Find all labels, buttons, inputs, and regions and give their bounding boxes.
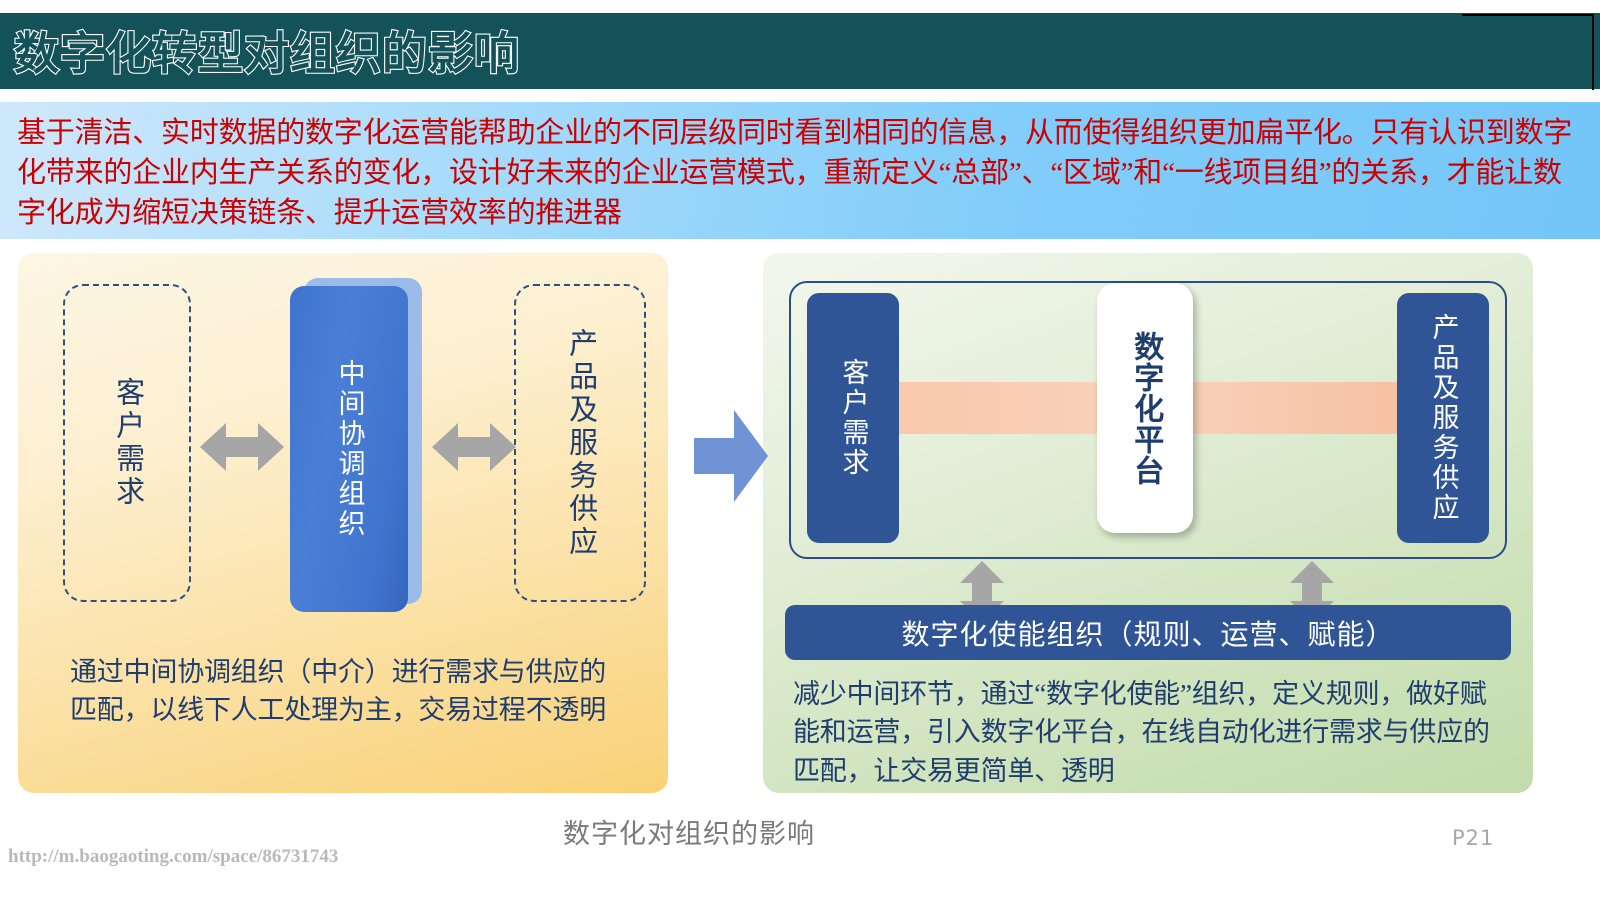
page-number: P21 bbox=[1452, 826, 1494, 850]
left-customer-demand-label: 客户需求 bbox=[65, 286, 189, 600]
enabling-organisation-label: 数字化使能组织（规则、运营、赋能） bbox=[901, 613, 1394, 653]
left-product-supply-label: 产品及服务供应 bbox=[516, 286, 644, 600]
middle-coordination-block: 中间协调组织 bbox=[290, 278, 422, 612]
title-bar: 数字化转型对组织的影响 bbox=[0, 13, 1600, 89]
left-panel-caption: 通过中间协调组织（中介）进行需求与供应的匹配，以线下人工处理为主，交易过程不透明 bbox=[70, 653, 630, 730]
middle-coordination-label: 中间协调组织 bbox=[290, 286, 408, 612]
footer-caption: 数字化对组织的影响 bbox=[563, 812, 815, 851]
left-product-supply-box: 产品及服务供应 bbox=[514, 284, 646, 602]
right-product-supply-label: 产品及服务供应 bbox=[1397, 293, 1489, 543]
right-panel: 客户需求 数字化平台 产品及服务供应 数字化使能组织（规则、运营、赋能） 减少中… bbox=[763, 253, 1533, 793]
right-product-supply-box: 产品及服务供应 bbox=[1397, 293, 1489, 543]
enabling-organisation-bar: 数字化使能组织（规则、运营、赋能） bbox=[785, 605, 1511, 660]
intro-paragraph: 基于清洁、实时数据的数字化运营能帮助企业的不同层级同时看到相同的信息，从而使得组… bbox=[17, 113, 1589, 233]
slide-canvas: 数字化转型对组织的影响 基于清洁、实时数据的数字化运营能帮助企业的不同层级同时看… bbox=[0, 0, 1600, 900]
page-title: 数字化转型对组织的影响 bbox=[14, 17, 520, 82]
right-customer-demand-label: 客户需求 bbox=[807, 293, 899, 543]
digital-platform-label: 数字化平台 bbox=[1097, 283, 1193, 533]
right-customer-demand-box: 客户需求 bbox=[807, 293, 899, 543]
right-panel-caption: 减少中间环节，通过“数字化使能”组织，定义规则，做好赋能和运营，引入数字化平台，… bbox=[793, 675, 1513, 790]
digital-platform-card: 数字化平台 bbox=[1097, 283, 1193, 533]
corner-rule-decoration bbox=[1462, 14, 1594, 90]
middle-block-front-face: 中间协调组织 bbox=[290, 286, 408, 612]
source-url: http://m.baogaoting.com/space/86731743 bbox=[8, 846, 338, 868]
horizontal-double-arrow-icon bbox=[200, 419, 284, 475]
left-customer-demand-box: 客户需求 bbox=[63, 284, 191, 602]
right-arrow-icon bbox=[690, 408, 770, 504]
intro-banner: 基于清洁、实时数据的数字化运营能帮助企业的不同层级同时看到相同的信息，从而使得组… bbox=[0, 102, 1600, 239]
horizontal-double-arrow-icon bbox=[432, 419, 516, 475]
left-panel: 客户需求 中间协调组织 产品及服务供应 通过中间协调组织（中介）进行需求与供应的… bbox=[18, 253, 668, 793]
